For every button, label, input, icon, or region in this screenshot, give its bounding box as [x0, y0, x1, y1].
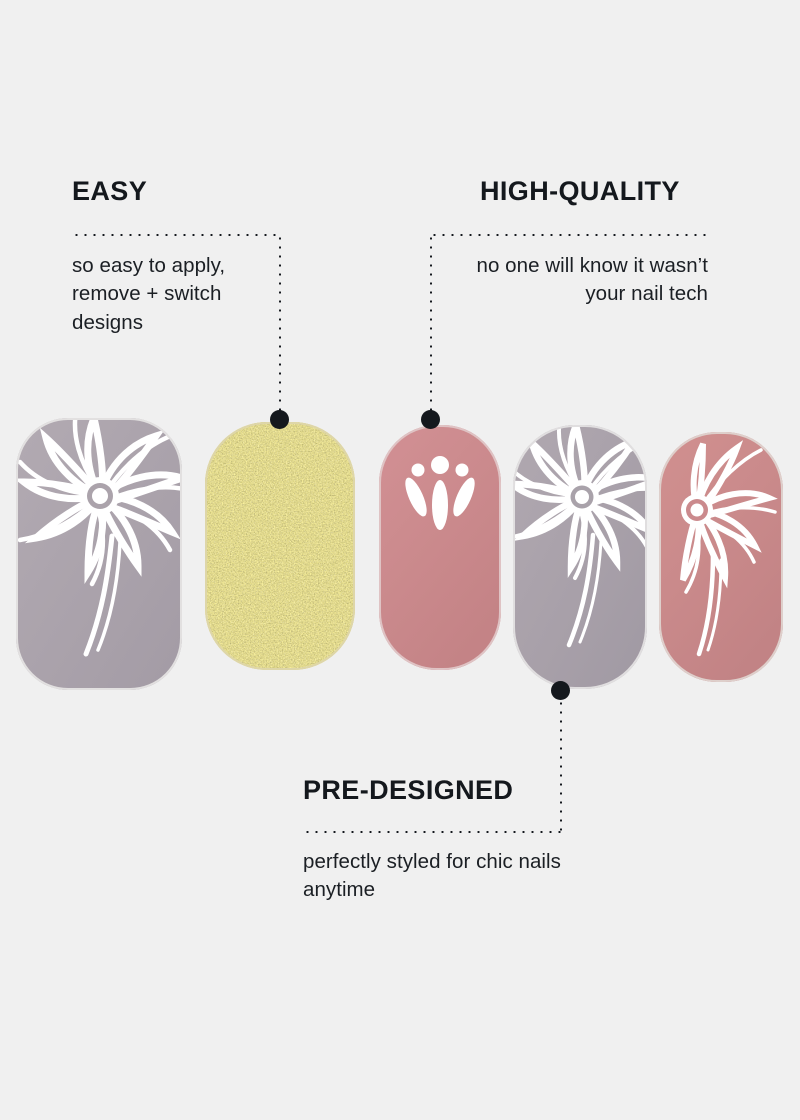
pre-designed-connector-line	[560, 690, 562, 832]
feature-heading-pre-designed: PRE-DESIGNED	[303, 777, 513, 804]
pre-designed-connector-dot	[551, 681, 570, 700]
nail-swatch-4	[513, 425, 647, 689]
nail-swatch-3	[379, 425, 501, 670]
feature-heading-easy: EASY	[72, 178, 147, 205]
feature-body-pre-designed: perfectly styled for chic nails anytime	[303, 848, 573, 905]
nail-swatch-2	[205, 422, 355, 670]
high-quality-divider-line	[430, 234, 710, 236]
easy-divider-line	[72, 234, 281, 236]
high-quality-connector-dot	[421, 410, 440, 429]
nail-swatch-row	[0, 0, 800, 1120]
nail-swatch-5	[659, 432, 783, 682]
infographic-canvas: EASY so easy to apply, remove + switch d…	[0, 0, 800, 1120]
feature-body-high-quality: no one will know it wasn’t your nail tec…	[458, 252, 708, 309]
feature-body-easy: so easy to apply, remove + switch design…	[72, 252, 287, 337]
easy-connector-dot	[270, 410, 289, 429]
pre-designed-divider-line	[303, 831, 562, 833]
feature-heading-high-quality: HIGH-QUALITY	[480, 178, 680, 205]
nail-swatch-1	[16, 418, 182, 690]
high-quality-connector-line	[430, 234, 432, 420]
